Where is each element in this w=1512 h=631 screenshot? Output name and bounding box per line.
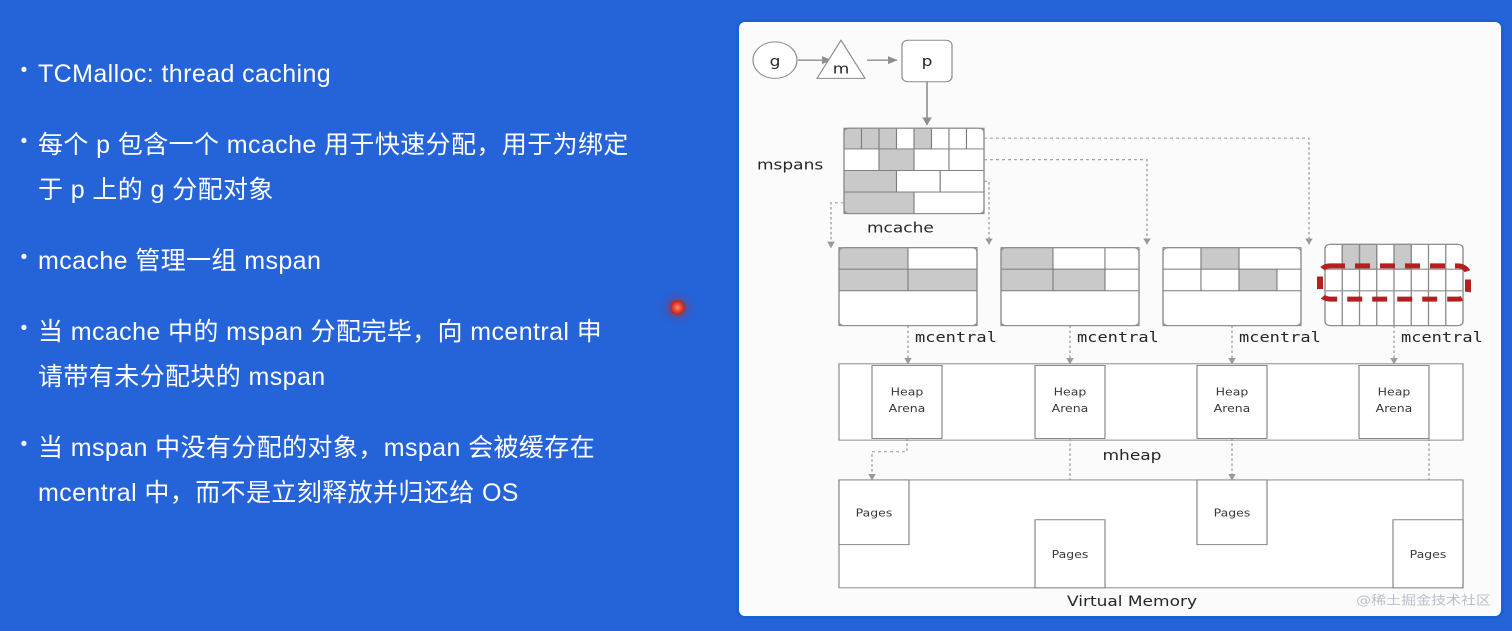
mcentral-block [839, 248, 977, 326]
heap-arena-label-line2: Arena [1376, 402, 1413, 415]
mheap-label: mheap [1103, 447, 1162, 463]
node-label-p: p [922, 53, 933, 69]
bullet-text: 当 mspan 中没有分配的对象，mspan 会被缓存在 mcentral 中，… [38, 426, 595, 516]
bullet-text: mcache 管理一组 mspan [38, 239, 321, 284]
list-item: • 每个 p 包含一个 mcache 用于快速分配，用于为绑定 于 p 上的 g… [10, 123, 710, 213]
pages-label: Pages [1052, 548, 1089, 561]
mcentral-block [1001, 248, 1139, 326]
mcentral-label: mcentral [1401, 330, 1483, 346]
bullet-text: TCMalloc: thread caching [38, 52, 331, 97]
bullet-marker-icon: • [10, 426, 38, 464]
mcentral-label: mcentral [1077, 330, 1159, 346]
pages-label: Pages [856, 507, 893, 520]
heap-arena-label-line1: Heap [1216, 385, 1249, 398]
mcache-row [844, 128, 984, 149]
pages-label: Pages [1410, 548, 1447, 561]
pages-label: Pages [1214, 507, 1251, 520]
mheap-block: Heap Arena Heap Arena Heap Arena [839, 364, 1463, 440]
virtual-memory-label: Virtual Memory [1067, 593, 1197, 609]
list-item: • 当 mcache 中的 mspan 分配完毕，向 mcentral 申 请带… [10, 310, 710, 400]
node-label-g: g [770, 53, 781, 69]
goroutine-node: g [753, 42, 797, 79]
pages-box: Pages [1393, 520, 1463, 588]
mcache-block [844, 128, 984, 213]
pages-box: Pages [1035, 520, 1105, 588]
heap-arena-label-line2: Arena [889, 402, 926, 415]
recording-indicator-icon [670, 300, 685, 315]
mcache-row [844, 171, 984, 193]
mcentral-block-highlighted [1320, 244, 1468, 325]
mspans-label: mspans [757, 157, 823, 173]
heap-arena-label-line1: Heap [1054, 385, 1087, 398]
link-mcache-to-mcentral-2 [984, 181, 989, 244]
processor-node: p [902, 40, 952, 81]
diagram-panel: g m p mspans [736, 19, 1504, 619]
mcache-row [844, 192, 984, 214]
mcentral-block [1163, 248, 1301, 326]
node-label-m: m [833, 61, 850, 77]
virtual-memory-block: Pages Pages Pages Pages [839, 480, 1463, 588]
bullet-marker-icon: • [10, 239, 38, 277]
heap-arena: Heap Arena [1035, 365, 1105, 438]
mcache-label: mcache [867, 220, 934, 236]
bullet-marker-icon: • [10, 123, 38, 161]
heap-arena-label-line1: Heap [891, 385, 924, 398]
slide-root: • TCMalloc: thread caching • 每个 p 包含一个 m… [0, 0, 1512, 631]
heap-arena: Heap Arena [1359, 365, 1429, 438]
machine-node: m [817, 40, 865, 78]
heap-arena-label-line1: Heap [1378, 385, 1411, 398]
bullet-marker-icon: • [10, 310, 38, 348]
bullet-list: • TCMalloc: thread caching • 每个 p 包含一个 m… [0, 0, 730, 631]
list-item: • mcache 管理一组 mspan [10, 239, 710, 284]
bullet-text: 每个 p 包含一个 mcache 用于快速分配，用于为绑定 于 p 上的 g 分… [38, 123, 629, 213]
heap-arena: Heap Arena [1197, 365, 1267, 438]
heap-arena-label-line2: Arena [1052, 402, 1089, 415]
mcentral-label: mcentral [1239, 330, 1321, 346]
mcentral-label: mcentral [915, 330, 997, 346]
mcache-row [844, 149, 984, 171]
pages-box: Pages [839, 480, 909, 545]
heap-arena-label-line2: Arena [1214, 402, 1251, 415]
link-mcache-to-mcentral-1 [831, 203, 844, 248]
heap-arena: Heap Arena [872, 365, 942, 438]
link-mcache-to-mcentral-3 [984, 160, 1147, 245]
pages-box: Pages [1197, 480, 1267, 545]
watermark: @稀土掘金技术社区 [1356, 594, 1491, 608]
diagram-canvas: g m p mspans [739, 22, 1501, 616]
list-item: • 当 mspan 中没有分配的对象，mspan 会被缓存在 mcentral … [10, 426, 710, 516]
bullet-marker-icon: • [10, 52, 38, 90]
list-item: • TCMalloc: thread caching [10, 52, 710, 97]
bullet-text: 当 mcache 中的 mspan 分配完毕，向 mcentral 申 请带有未… [38, 310, 602, 400]
link-arena1-to-pages [872, 438, 907, 479]
